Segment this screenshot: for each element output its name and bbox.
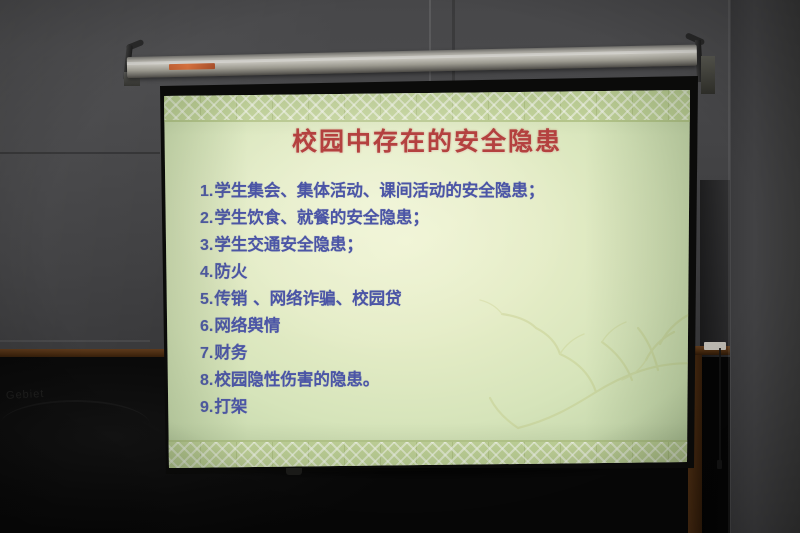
projected-slide: 校园中存在的安全隐患 1.学生集会、集体活动、课间活动的安全隐患； 2.学生饮食… (164, 90, 690, 468)
wall-shadow-gap-right (700, 180, 730, 533)
bullet-item-4: 4.防火 (200, 259, 678, 286)
wall-trim-line-upper (0, 152, 160, 154)
bullet-number: 6. (200, 318, 213, 335)
bullet-item-8: 8.校园隐性伤害的隐患。 (200, 367, 678, 394)
bullet-item-2: 2.学生饮食、就餐的安全隐患； (200, 205, 678, 232)
slide-content: 校园中存在的安全隐患 1.学生集会、集体活动、课间活动的安全隐患； 2.学生饮食… (164, 90, 690, 468)
bullet-number: 4. (200, 264, 213, 281)
bullet-item-3: 3.学生交通安全隐患； (200, 232, 678, 259)
bullet-text: 防火 (214, 262, 247, 281)
bullet-text: 学生集会、集体活动、课间活动的安全隐患； (214, 181, 544, 200)
screen-pull-tab[interactable] (286, 468, 302, 475)
wall-mount-plate-right (704, 342, 726, 350)
bullet-text: 打架 (214, 397, 247, 416)
bullet-text: 学生交通安全隐患； (214, 235, 363, 254)
wall-trim-line-lower (0, 340, 150, 342)
bullet-number: 9. (200, 399, 213, 416)
bullet-number: 2. (200, 210, 213, 227)
screen-drop-shadow (160, 468, 696, 482)
bullet-item-1: 1.学生集会、集体活动、课间活动的安全隐患； (200, 178, 678, 205)
bracket-plate-icon (701, 56, 715, 94)
bullet-text: 传销 、网络诈骗、校园贷 (214, 289, 401, 308)
bullet-number: 8. (200, 372, 213, 389)
chalk-smudge-arc (0, 400, 150, 450)
brand-logo-icon (169, 63, 215, 70)
bullet-item-6: 6.网络舆情 (200, 313, 678, 340)
wall-column-right (730, 0, 800, 533)
bullet-text: 校园隐性伤害的隐患。 (214, 370, 379, 389)
bullet-item-9: 9.打架 (200, 394, 678, 421)
bullet-text: 网络舆情 (214, 316, 280, 335)
bullet-item-5: 5.传销 、网络诈骗、校园贷 (200, 286, 678, 313)
bullet-item-7: 7.财务 (200, 340, 678, 367)
bullet-number: 5. (200, 291, 213, 308)
bullet-text: 财务 (214, 343, 247, 362)
projector-screen: 校园中存在的安全隐患 1.学生集会、集体活动、课间活动的安全隐患； 2.学生饮食… (158, 76, 698, 474)
bullet-number: 3. (200, 237, 213, 254)
slide-bullet-list: 1.学生集会、集体活动、课间活动的安全隐患； 2.学生饮食、就餐的安全隐患； 3… (200, 178, 678, 421)
bullet-number: 7. (200, 345, 213, 362)
bullet-number: 1. (200, 183, 213, 200)
pull-cord-handle[interactable] (717, 460, 722, 469)
classroom-photo: Gebiet (0, 0, 800, 533)
pull-cord[interactable] (719, 348, 721, 466)
slide-title: 校园中存在的安全隐患 (164, 122, 690, 158)
wall-column-edge (728, 0, 731, 533)
bullet-text: 学生饮食、就餐的安全隐患； (214, 208, 429, 227)
